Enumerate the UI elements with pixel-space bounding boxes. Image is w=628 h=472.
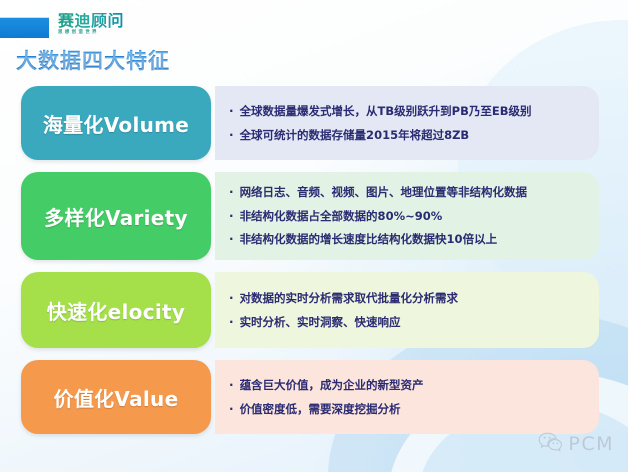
bullet-text: 价值密度低，需要深度挖掘分析 [240, 402, 401, 416]
bullet-text: 实时分析、实时洞察、快速响应 [240, 315, 401, 329]
feature-row-variety: 多样化Variety · 网络日志、音频、视频、图片、地理位置等非结构化数据 ·… [21, 172, 599, 260]
bullet-text: 对数据的实时分析需求取代批量化分析需求 [240, 291, 459, 305]
feature-row-value: 价值化Value · 蕴含巨大价值，成为企业的新型资产 · 价值密度低，需要深度… [21, 360, 599, 434]
bullet-dot-icon: · [229, 209, 234, 223]
list-item: · 价值密度低，需要深度挖掘分析 [229, 402, 587, 416]
feature-panel-variety: · 网络日志、音频、视频、图片、地理位置等非结构化数据 · 非结构化数据占全部数… [215, 172, 599, 260]
bullet-dot-icon: · [229, 104, 234, 118]
bullet-dot-icon: · [229, 128, 234, 142]
list-item: · 对数据的实时分析需求取代批量化分析需求 [229, 291, 587, 305]
wechat-icon [538, 432, 564, 456]
bullet-dot-icon: · [229, 185, 234, 199]
feature-tag-velocity: 快速化elocity [21, 272, 211, 348]
watermark: PCM [538, 432, 614, 456]
bullet-dot-icon: · [229, 232, 234, 246]
feature-panel-velocity: · 对数据的实时分析需求取代批量化分析需求 · 实时分析、实时洞察、快速响应 [215, 272, 599, 348]
list-item: · 网络日志、音频、视频、图片、地理位置等非结构化数据 [229, 185, 587, 199]
brand-logo: 赛迪顾问 思想创造世界 [58, 13, 124, 36]
feature-panel-value: · 蕴含巨大价值，成为企业的新型资产 · 价值密度低，需要深度挖掘分析 [215, 360, 599, 434]
list-item: · 蕴含巨大价值，成为企业的新型资产 [229, 378, 587, 392]
list-item: · 非结构化数据的增长速度比结构化数据快10倍以上 [229, 232, 587, 246]
bullet-dot-icon: · [229, 315, 234, 329]
bullet-dot-icon: · [229, 378, 234, 392]
bullet-text: 非结构化数据的增长速度比结构化数据快10倍以上 [240, 232, 498, 246]
list-item: · 实时分析、实时洞察、快速响应 [229, 315, 587, 329]
list-item: · 全球数据量爆发式增长，从TB级别跃升到PB乃至EB级别 [229, 104, 587, 118]
bullet-text: 全球数据量爆发式增长，从TB级别跃升到PB乃至EB级别 [240, 104, 532, 118]
slide-header: 赛迪顾问 思想创造世界 大数据四大特征 [0, 0, 628, 78]
list-item: · 全球可统计的数据存储量2015年将超过8ZB [229, 128, 587, 142]
feature-tag-value: 价值化Value [21, 360, 211, 434]
bullet-dot-icon: · [229, 402, 234, 416]
bullet-text: 网络日志、音频、视频、图片、地理位置等非结构化数据 [240, 185, 528, 199]
brand-tagline: 思想创造世界 [58, 31, 124, 36]
logo-blue-bar [0, 17, 49, 38]
feature-row-velocity: 快速化elocity · 对数据的实时分析需求取代批量化分析需求 · 实时分析、… [21, 272, 599, 348]
page-title: 大数据四大特征 [16, 45, 170, 75]
feature-tag-volume: 海量化Volume [21, 86, 211, 160]
bullet-dot-icon: · [229, 291, 234, 305]
feature-tag-variety: 多样化Variety [21, 172, 211, 260]
feature-row-volume: 海量化Volume · 全球数据量爆发式增长，从TB级别跃升到PB乃至EB级别 … [21, 86, 599, 160]
slide-canvas: 赛迪顾问 思想创造世界 大数据四大特征 海量化Volume · 全球数据量爆发式… [0, 0, 628, 472]
bullet-text: 非结构化数据占全部数据的80%~90% [240, 209, 443, 223]
brand-name: 赛迪顾问 [58, 13, 124, 29]
watermark-text: PCM [568, 433, 614, 455]
bullet-text: 全球可统计的数据存储量2015年将超过8ZB [240, 128, 470, 142]
feature-panel-volume: · 全球数据量爆发式增长，从TB级别跃升到PB乃至EB级别 · 全球可统计的数据… [215, 86, 599, 160]
bullet-text: 蕴含巨大价值，成为企业的新型资产 [240, 378, 424, 392]
list-item: · 非结构化数据占全部数据的80%~90% [229, 209, 587, 223]
